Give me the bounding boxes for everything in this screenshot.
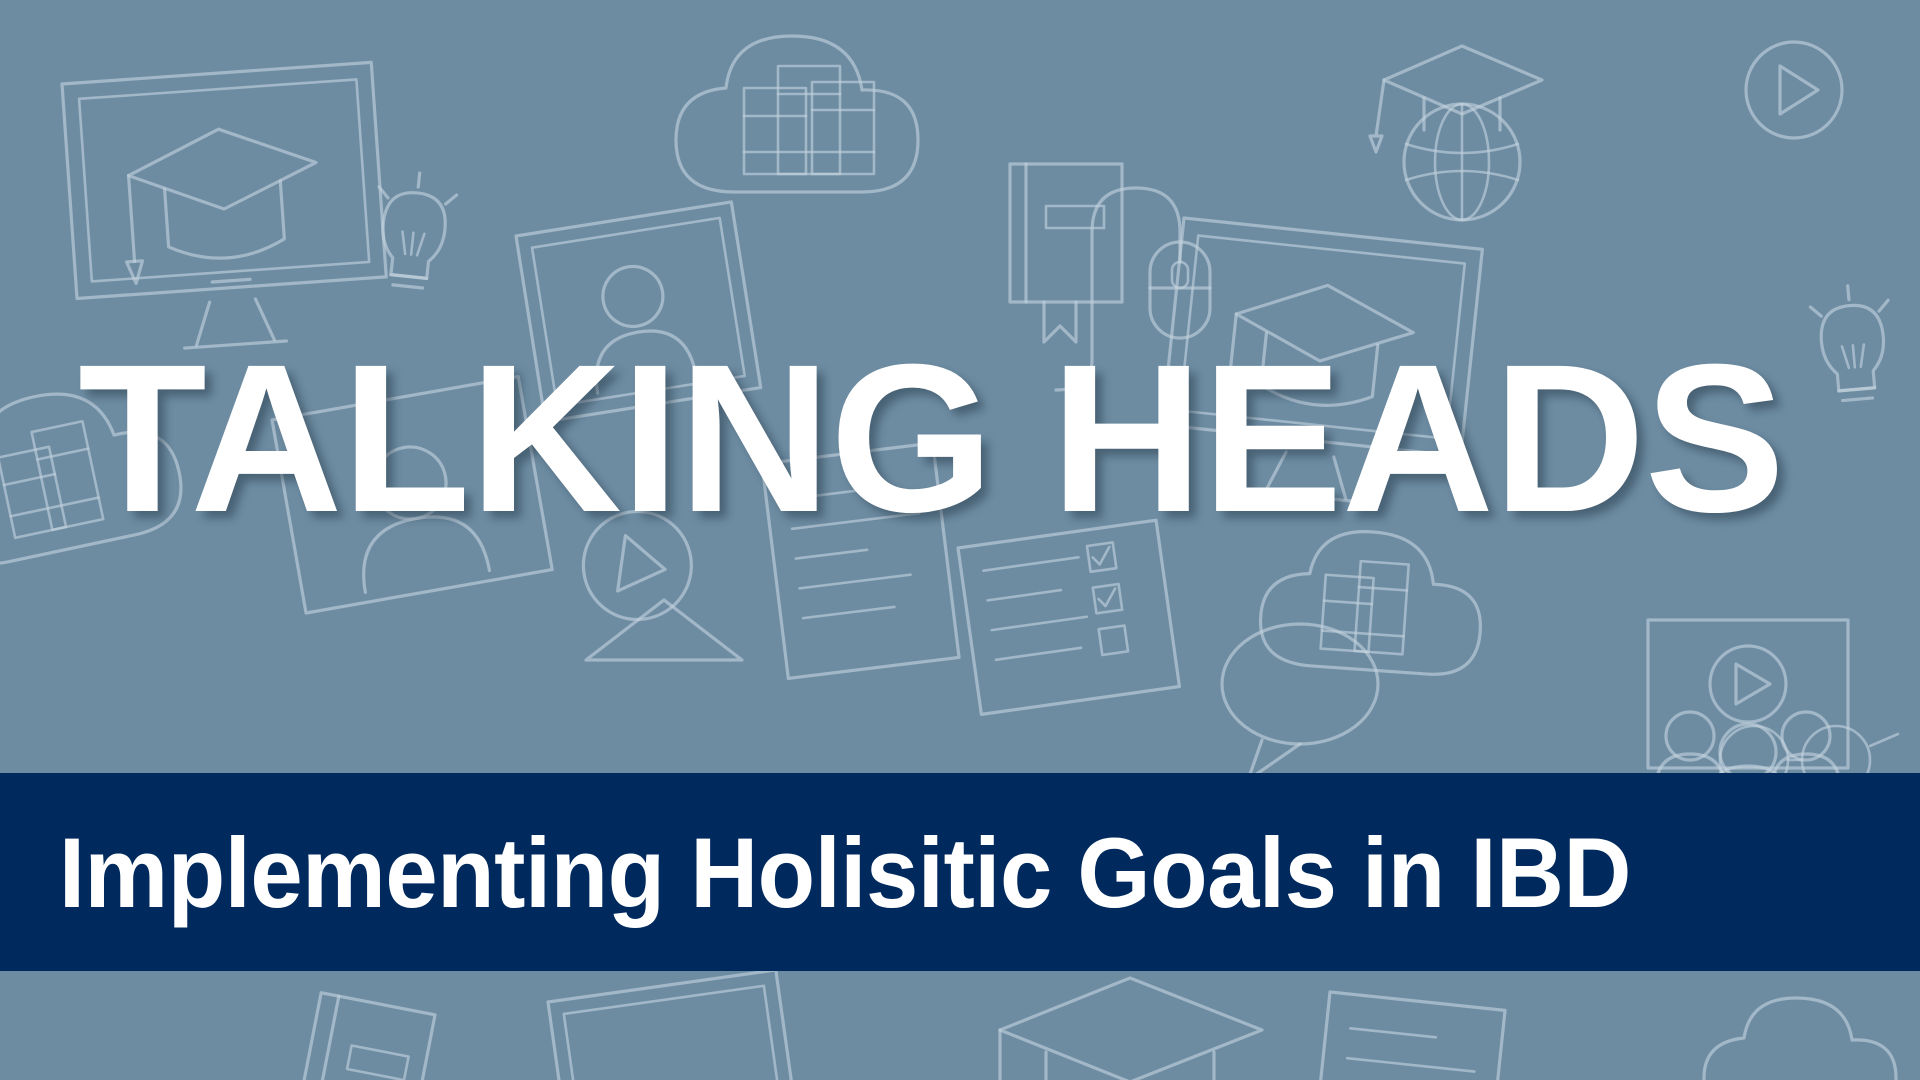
graduation-cap-icon — [990, 978, 1262, 1080]
speech-bubble-icon — [586, 600, 742, 660]
book-icon — [293, 993, 435, 1080]
graduation-cap-globe-icon — [1370, 46, 1542, 220]
lightbulb-icon — [369, 169, 458, 291]
title-block: TALKING HEADS — [0, 338, 1920, 538]
play-button-circle-icon — [1746, 42, 1842, 138]
laptop-graduation-cap-icon — [548, 970, 797, 1080]
monitor-graduation-cap-icon — [62, 62, 390, 355]
talking-heads-title-slide: TALKING HEADS Implementing Holisitic Goa… — [0, 0, 1920, 1080]
cloud-bar-chart-icon — [676, 36, 918, 192]
subtitle-band: Implementing Holisitic Goals in IBD — [0, 773, 1920, 971]
speech-bubble-icon — [1222, 624, 1378, 780]
cloud-bar-chart-icon — [1704, 998, 1896, 1080]
certificate-page-icon — [1315, 992, 1505, 1080]
page-title: TALKING HEADS — [78, 338, 1920, 538]
book-bookmark-icon — [1010, 164, 1122, 342]
subtitle-text: Implementing Holisitic Goals in IBD — [0, 823, 1631, 922]
